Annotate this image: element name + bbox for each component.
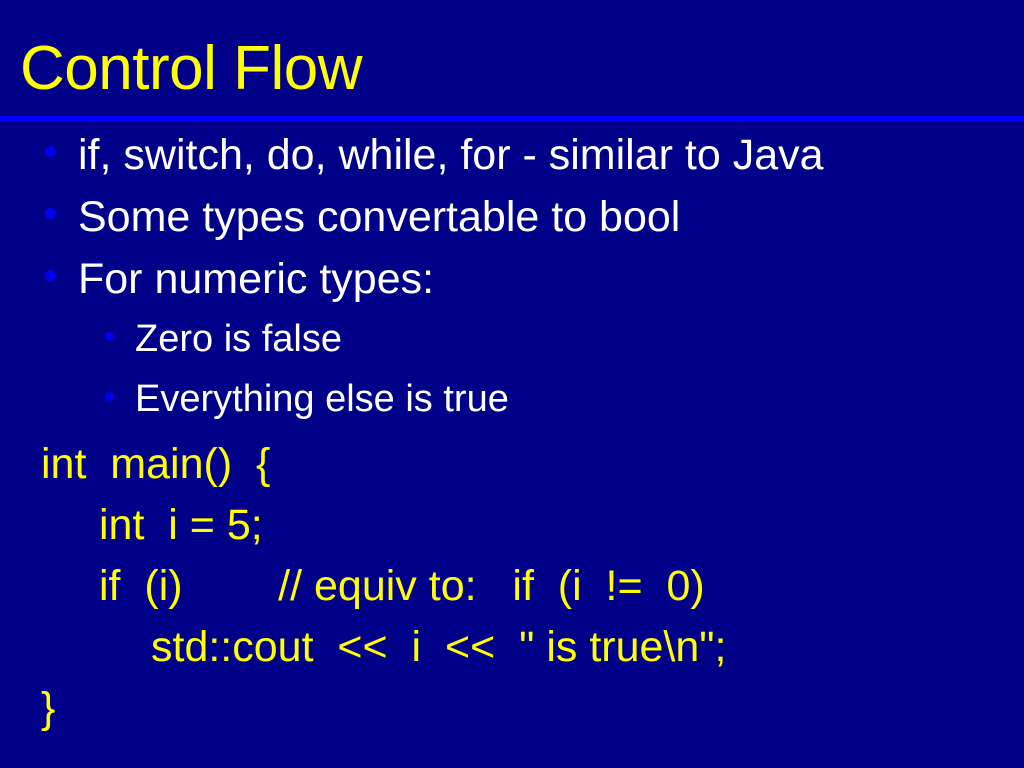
list-item: For numeric types: (0, 250, 1024, 312)
code-line: int i = 5; (0, 498, 1024, 559)
list-item: if, switch, do, while, for - similar to … (0, 126, 1024, 188)
bullet-list: if, switch, do, while, for - similar to … (0, 126, 1024, 432)
bullet-dot-icon (105, 392, 114, 401)
bullet-dot-icon (45, 146, 56, 157)
list-item: Some types convertable to bool (0, 188, 1024, 250)
sub-list-item-label: Everything else is true (135, 372, 509, 426)
code-line: int main() { (0, 437, 1024, 498)
title-divider (0, 116, 1024, 121)
list-item-label: For numeric types: (78, 250, 434, 308)
page-title: Control Flow (20, 36, 362, 102)
sub-list-item-label: Zero is false (135, 312, 342, 366)
slide-title-block: Control Flow (0, 0, 1024, 122)
bullet-dot-icon (45, 270, 56, 281)
slide: Control Flow if, switch, do, while, for … (0, 0, 1024, 768)
sub-list-item: Everything else is true (0, 372, 1024, 432)
code-line: } (0, 681, 1024, 742)
code-sample: int main() { int i = 5; if (i) // equiv … (0, 437, 1024, 742)
list-item-label: if, switch, do, while, for - similar to … (78, 126, 824, 184)
code-line: if (i) // equiv to: if (i != 0) (0, 559, 1024, 620)
bullet-dot-icon (105, 332, 114, 341)
bullet-dot-icon (45, 208, 56, 219)
sub-list-item: Zero is false (0, 312, 1024, 372)
list-item-label: Some types convertable to bool (78, 188, 680, 246)
code-line: std::cout << i << " is true\n"; (0, 620, 1024, 681)
